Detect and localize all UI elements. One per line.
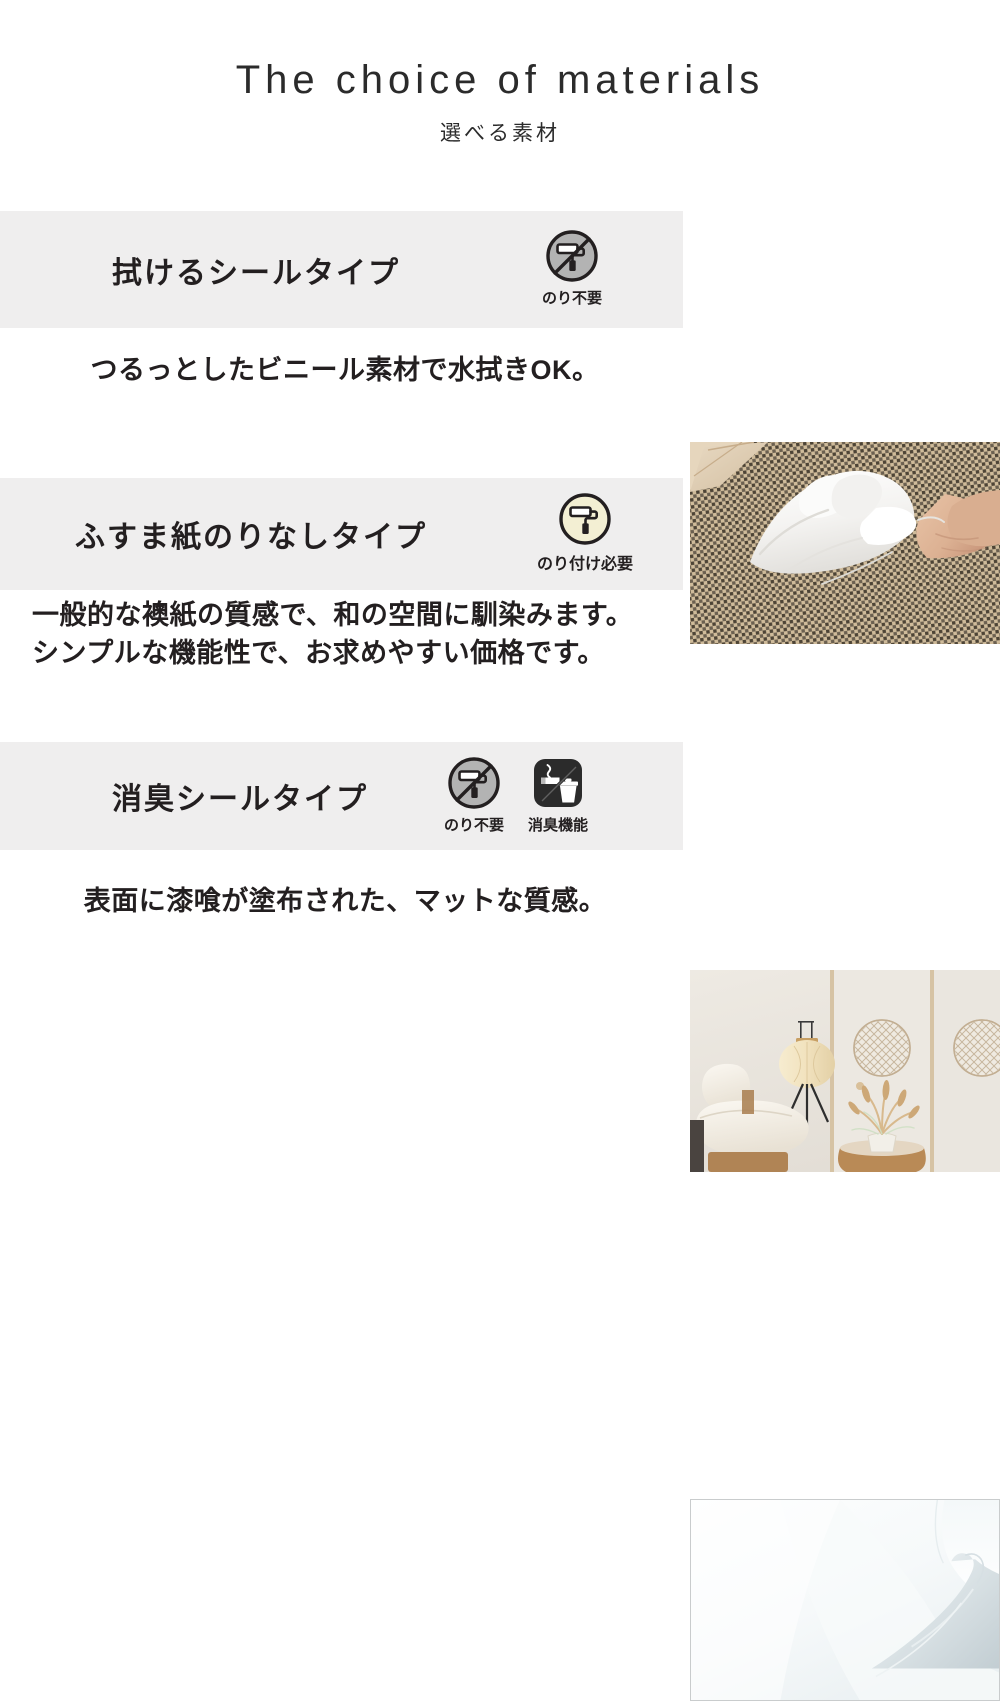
section-title: 消臭シールタイプ [112, 774, 368, 818]
section-description: 一般的な襖紙の質感で、和の空間に馴染みます。 シンプルな機能性で、お求めやすい価… [0, 596, 722, 673]
badge-label: 消臭機能 [528, 814, 588, 835]
no-glue-roller-icon [446, 755, 502, 811]
description-line: 一般的な襖紙の質感で、和の空間に馴染みます。 [32, 596, 722, 634]
description-line: つるっとしたビニール素材で水拭きOK。 [0, 351, 690, 389]
deodorizing-function-icon [530, 755, 586, 811]
badge-no-glue[interactable]: のり不要 [538, 228, 606, 308]
badge-group: のり不要 [538, 228, 606, 308]
badge-label: のり不要 [542, 287, 602, 308]
description-line: シンプルな機能性で、お求めやすい価格です。 [32, 634, 722, 672]
material-section-deodorizing-seal-type: 消臭シールタイプ のり不要 [0, 742, 1000, 977]
material-section-wipeable-seal-type: 拭けるシールタイプ のり不要 つるっとしたビニール素材で水拭きOK。 [0, 211, 1000, 441]
page-title: The choice of materials [0, 0, 1000, 102]
badge-label: のり付け必要 [537, 550, 633, 574]
section-title: 拭けるシールタイプ [112, 248, 400, 292]
description-line: 表面に漆喰が塗布された、マットな質感。 [0, 882, 690, 920]
material-section-fusuma-paper-no-glue-type: ふすま紙のりなしタイプ のり付け必要 一般的な襖紙の質感で、和の空間に馴染みます… [0, 478, 1000, 708]
white-matte-sheet-curled-corner-photo [690, 1499, 1000, 1701]
section-description: 表面に漆喰が塗布された、マットな質感。 [0, 882, 740, 920]
page-header: The choice of materials 選べる素材 [0, 0, 1000, 147]
badge-no-glue[interactable]: のり不要 [440, 755, 508, 835]
section-description: つるっとしたビニール素材で水拭きOK。 [0, 351, 730, 389]
photo-artwork [691, 1500, 999, 1700]
badge-deodorizing[interactable]: 消臭機能 [524, 755, 592, 835]
page-subtitle: 選べる素材 [0, 102, 1000, 147]
badge-group: のり不要 消臭機能 [440, 755, 592, 835]
no-glue-roller-icon [544, 228, 600, 284]
section-title: ふすま紙のりなしタイプ [75, 512, 427, 556]
badge-group: のり付け必要 [520, 491, 650, 574]
glue-required-roller-icon [557, 491, 613, 547]
japanese-interior-lantern-photo [690, 970, 1000, 1172]
badge-label: のり不要 [444, 814, 504, 835]
badge-glue-required[interactable]: のり付け必要 [520, 491, 650, 574]
photo-artwork [690, 970, 1000, 1172]
